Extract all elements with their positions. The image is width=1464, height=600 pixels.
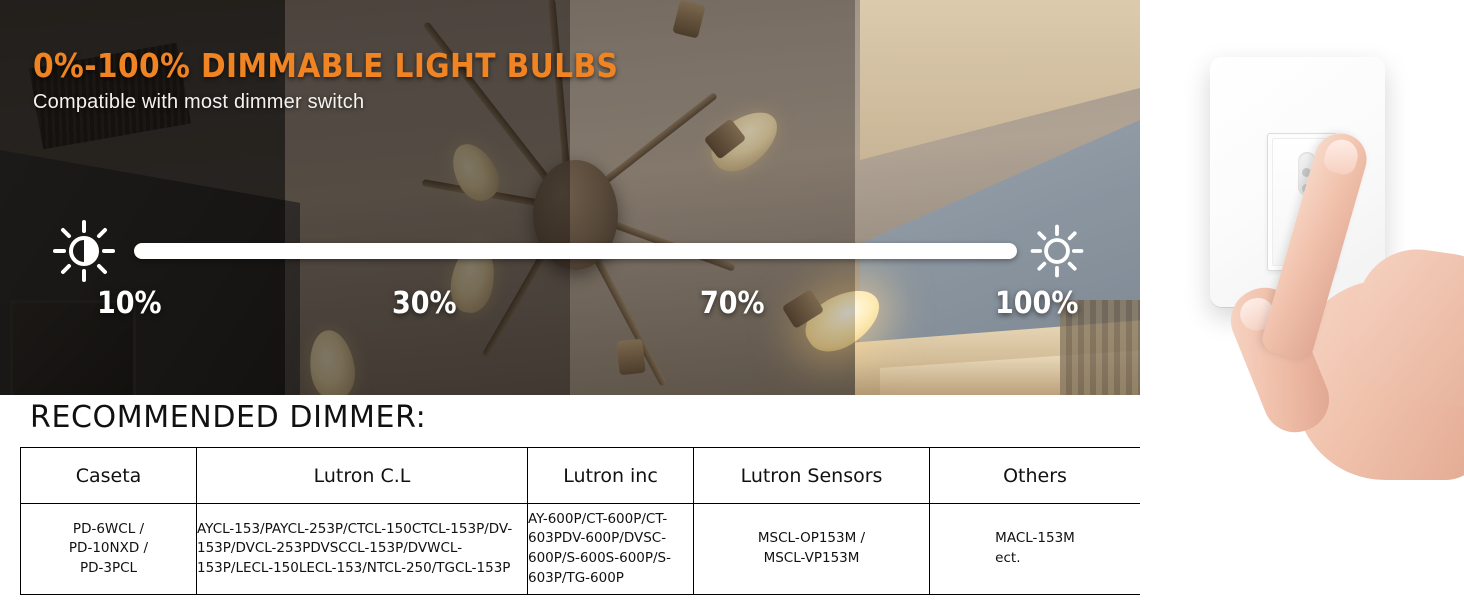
column-header-lutron-sensors: Lutron Sensors [694,448,930,504]
finger-nail [1321,136,1361,178]
column-header-others: Others [930,448,1141,504]
cell-others-value: MACL-153M ect. [995,529,1075,568]
product-photo: - + DIMMABLE [1140,0,1464,600]
cell-others-text: MACL-153M ect. [930,529,1140,568]
brightness-label-100: 100% [995,286,1078,321]
slider-track[interactable] [134,243,1017,259]
hero-title: 0%-100% DIMMABLE LIGHT BULBS [33,46,618,85]
cell-lutron-sensors-text: MSCL-OP153M / MSCL-VP153M [694,529,929,568]
recommended-dimmer-table: Caseta Lutron C.L Lutron inc Lutron Sens… [20,447,1141,595]
cell-caseta-text: PD-6WCL / PD-10NXD / PD-3PCL [21,520,196,579]
column-header-lutron-inc: Lutron inc [528,448,694,504]
column-header-caseta: Caseta [21,448,197,504]
cell-caseta: PD-6WCL / PD-10NXD / PD-3PCL [21,504,197,595]
cell-lutron-inc-text: AY-600P/CT-600P/CT-603PDV-600P/DVSC-600P… [528,510,693,588]
brightness-label-70: 70% [700,286,765,321]
cell-lutron-inc: AY-600P/CT-600P/CT-603PDV-600P/DVSC-600P… [528,504,694,595]
brightness-low-sun-icon [52,219,116,283]
product-infographic: 0%-100% DIMMABLE LIGHT BULBS Compatible … [0,0,1464,600]
hero-photo: 0%-100% DIMMABLE LIGHT BULBS Compatible … [0,0,1140,395]
brightness-label-30: 30% [392,286,457,321]
brightness-high-sun-icon [1030,224,1084,278]
brightness-label-10: 10% [97,286,162,321]
brightness-panel-100 [855,0,1140,395]
cell-others: MACL-153M ect. [930,504,1141,595]
column-header-lutron-cl: Lutron C.L [197,448,528,504]
recommended-dimmer-title: RECOMMENDED DIMMER: [30,400,426,435]
cell-lutron-cl: AYCL-153/PAYCL-253P/CTCL-150CTCL-153P/DV… [197,504,528,595]
hand-pressing-switch [1235,130,1464,460]
hero-subtitle: Compatible with most dimmer switch [33,91,364,114]
table-row: PD-6WCL / PD-10NXD / PD-3PCL AYCL-153/PA… [21,504,1141,595]
table-header-row: Caseta Lutron C.L Lutron inc Lutron Sens… [21,448,1141,504]
cell-lutron-sensors: MSCL-OP153M / MSCL-VP153M [694,504,930,595]
cell-lutron-cl-text: AYCL-153/PAYCL-253P/CTCL-150CTCL-153P/DV… [197,520,527,579]
